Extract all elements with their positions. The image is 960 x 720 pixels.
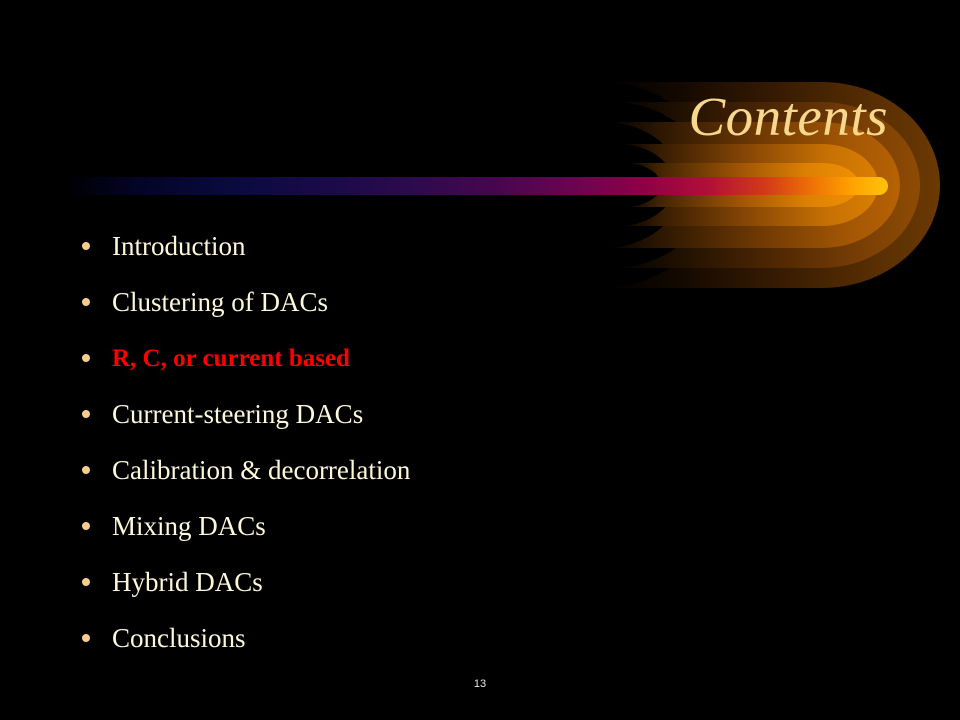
list-item[interactable]: Clustering of DACs <box>78 274 920 330</box>
bullet-dot-icon <box>82 242 90 250</box>
list-item-label: Mixing DACs <box>112 513 266 540</box>
gradient-rule <box>72 177 888 195</box>
list-item-label: Clustering of DACs <box>112 289 328 316</box>
bullet-dot-icon <box>82 410 90 418</box>
list-item[interactable]: Calibration & decorrelation <box>78 442 920 498</box>
bullet-dot-icon <box>82 298 90 306</box>
list-item-label: Calibration & decorrelation <box>112 457 410 484</box>
contents-list: Introduction Clustering of DACs R, C, or… <box>78 218 920 666</box>
list-item-label: R, C, or current based <box>112 346 350 371</box>
list-item[interactable]: Hybrid DACs <box>78 554 920 610</box>
list-item-label: Current-steering DACs <box>112 401 363 428</box>
list-item[interactable]: Mixing DACs <box>78 498 920 554</box>
bullet-dot-icon <box>82 354 90 362</box>
presentation-slide: Contents Introduction Clustering of DACs… <box>0 0 960 720</box>
page-title: Contents <box>688 88 888 146</box>
bullet-dot-icon <box>82 522 90 530</box>
list-item-label: Introduction <box>112 233 245 260</box>
list-item-label: Hybrid DACs <box>112 569 263 596</box>
page-number: 13 <box>0 678 960 690</box>
list-item-label: Conclusions <box>112 625 246 652</box>
bullet-dot-icon <box>82 634 90 642</box>
list-item[interactable]: Conclusions <box>78 610 920 666</box>
bullet-dot-icon <box>82 578 90 586</box>
list-item-highlighted[interactable]: R, C, or current based <box>78 330 920 386</box>
list-item[interactable]: Current-steering DACs <box>78 386 920 442</box>
list-item[interactable]: Introduction <box>78 218 920 274</box>
bullet-dot-icon <box>82 466 90 474</box>
